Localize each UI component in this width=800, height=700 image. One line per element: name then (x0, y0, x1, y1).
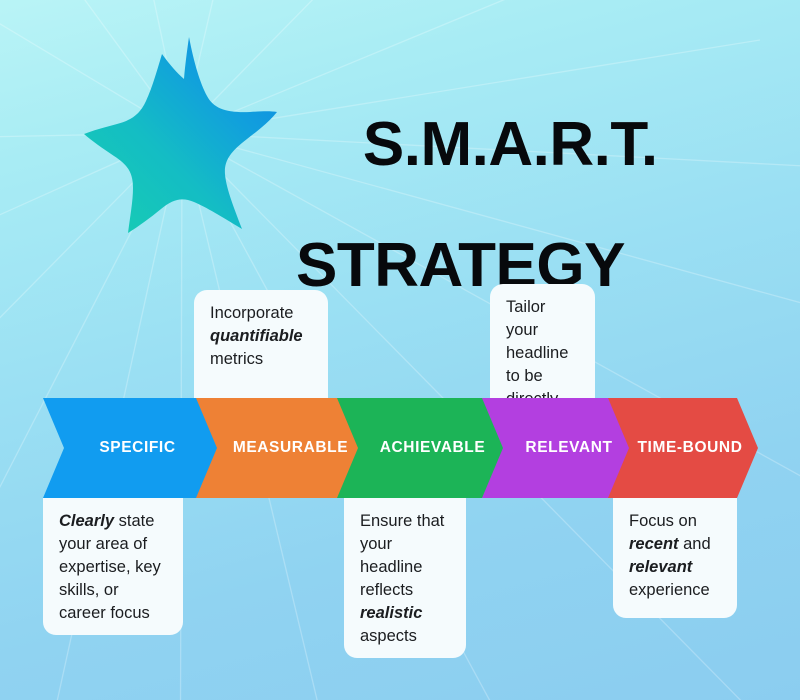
note-box-measurable: Incorporate quantifiable metrics (194, 290, 328, 398)
note-box-achievable: Ensure that your headline reflects reali… (344, 498, 466, 658)
chevron-label-time-bound: TIME-BOUND (623, 439, 742, 457)
infographic-canvas: S.M.A.R.T. STRATEGY Clearly state your a… (0, 0, 800, 700)
note-box-specific: Clearly state your area of expertise, ke… (43, 498, 183, 635)
note-text-relevant-0: Tailor your headline to be directly (506, 298, 568, 408)
note-text-time-bound-3: relevant (629, 558, 692, 576)
note-text-time-bound-2: and (679, 535, 711, 553)
chevron-label-measurable: MEASURABLE (219, 439, 348, 457)
note-text-specific-0: Clearly (59, 512, 114, 530)
chevron-step-specific[interactable]: SPECIFIC (43, 398, 218, 498)
note-text-time-bound-0: Focus on (629, 512, 697, 530)
note-text-measurable-1: quantifiable (210, 327, 303, 345)
note-text-achievable-1: realistic (360, 604, 422, 622)
note-text-time-bound-1: recent (629, 535, 679, 553)
five-point-star-icon (84, 33, 280, 233)
note-text-achievable-2: aspects (360, 627, 417, 645)
chevron-label-relevant: RELEVANT (511, 439, 612, 457)
chevron-label-specific: SPECIFIC (85, 439, 175, 457)
chevron-step-achievable[interactable]: ACHIEVABLE (337, 398, 514, 498)
note-text-time-bound-4: experience (629, 581, 710, 599)
note-text-measurable-2: metrics (210, 350, 263, 368)
note-text-achievable-0: Ensure that your headline reflects (360, 512, 444, 599)
note-text-measurable-0: Incorporate (210, 304, 293, 322)
chevron-label-achievable: ACHIEVABLE (366, 439, 486, 457)
note-box-time-bound: Focus on recent and relevant experience (613, 498, 737, 618)
page-title-line-2: STRATEGY (296, 236, 658, 297)
page-title-line-1: S.M.A.R.T. (363, 110, 658, 179)
chevron-step-time-bound[interactable]: TIME-BOUND (608, 398, 758, 498)
smart-chevron-band: SPECIFICMEASURABLEACHIEVABLERELEVANTTIME… (0, 398, 800, 498)
page-title: S.M.A.R.T. STRATEGY (296, 54, 658, 419)
